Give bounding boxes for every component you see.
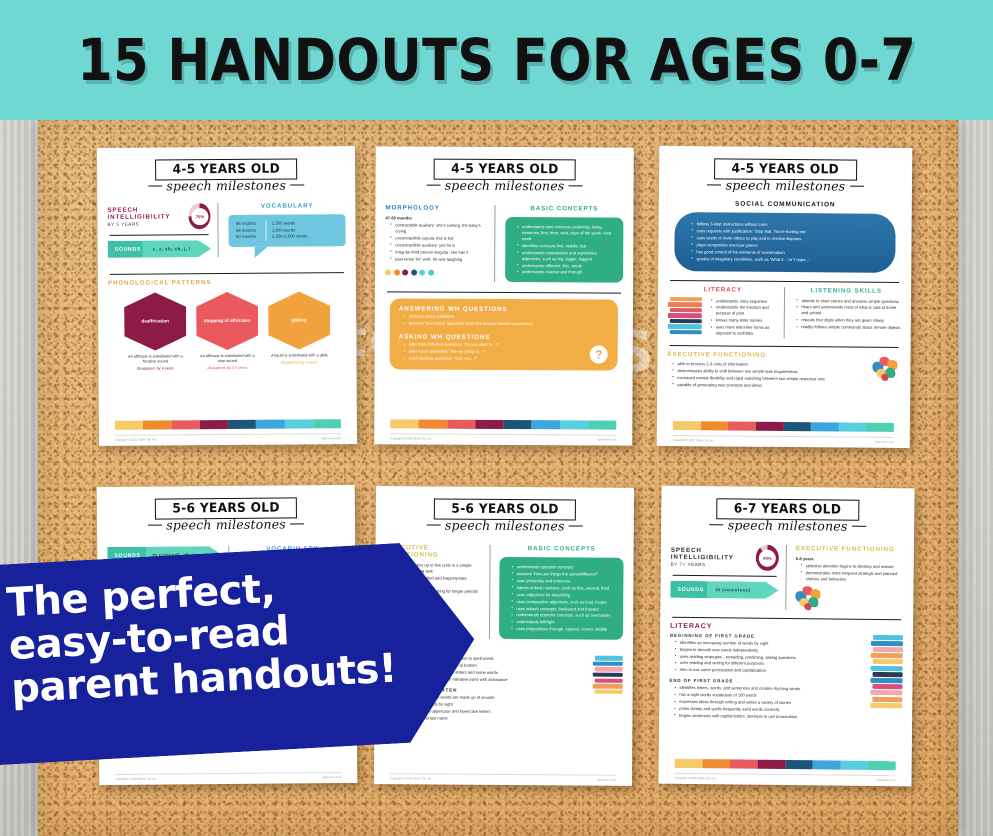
sheet-footer: Copyright © 2022 Shine Tot, Inc. adventu… (674, 773, 895, 782)
list-item: answers 'How are things the same/differe… (513, 571, 617, 578)
handout-age-title: 6-7 YEARS OLD (734, 501, 842, 517)
books-stack-icon (870, 635, 903, 723)
list-item: past tense 'be' verb: he was laughing (391, 256, 486, 262)
handout-subtitle: speech milestones (669, 177, 902, 194)
list-item: tries to use some punctuation and capita… (676, 667, 866, 675)
list-item: uses yesterday and tomorrow (513, 578, 617, 585)
list-item: attends to short stories and answers sim… (797, 298, 901, 305)
list-item: uses adverb concepts: backward and forwa… (512, 606, 616, 613)
basic-concepts-box: understands time concepts yesterday, tod… (505, 217, 624, 283)
list-item: asks future questions: 'Are we going to.… (405, 349, 609, 356)
hex-label: deaffrication (136, 318, 174, 324)
sheet-footer: Copyright © 2022 Shine Tot, Inc. adventu… (390, 433, 616, 441)
list-item: identifies concepts first, middle, last (518, 243, 616, 249)
handout-subtitle: speech milestones (386, 517, 624, 534)
handout-subtitle: speech milestones (107, 177, 345, 194)
footer-copyright: Copyright © 2022 Shine Tot, Inc. (115, 777, 157, 781)
color-strip (115, 419, 341, 430)
sounds-label: SOUNDS (670, 586, 715, 592)
listening-skills-list: attends to short stories and answers sim… (797, 298, 901, 332)
begin-first-grade-heading: BEGINNING OF FIRST GRADE (670, 632, 866, 639)
literacy-heading: LITERACY (670, 622, 903, 631)
sounds-banner: SOUNDS s, z, sh, ch, j, l (108, 240, 212, 258)
literacy-heading: LITERACY (668, 286, 778, 294)
footer-url: adventure.com (597, 437, 616, 441)
handout-age-title: 4-5 YEARS OLD (172, 162, 280, 178)
handout-title: 4-5 YEARS OLD speech milestones (386, 158, 624, 193)
handout-title: 4-5 YEARS OLD speech milestones (669, 158, 902, 194)
hex-disappears: disappears by 4 years (124, 366, 186, 371)
footer-copyright: Copyright © 2022 Shine Tot, Inc. (390, 776, 432, 780)
intelligibility-donut-chart: 90% (756, 545, 779, 571)
morphology-list: contractable auxiliary: she's coming, th… (391, 222, 486, 262)
asking-wh-list: asks early infinitive questions: 'Do you… (405, 342, 609, 363)
hex-desc: An affricate is substituted with a stop … (196, 353, 258, 364)
hex-label: gliding (287, 318, 312, 324)
books-stack-icon (592, 656, 622, 724)
sounds-label: SOUNDS (108, 246, 153, 252)
list-item: speaks of imaginary conditions, such as … (692, 256, 883, 264)
divider (387, 292, 621, 294)
list-item: uses more letter-like forms as opposed t… (712, 325, 778, 337)
footer-url: adventure.com (875, 440, 894, 444)
handout-subtitle: speech milestones (671, 517, 904, 534)
list-item: understands opposite concepts (513, 564, 617, 571)
basic-concepts-list: understands opposite concepts answers 'H… (512, 564, 616, 633)
list-item: irregular third person singular: she has… (391, 249, 486, 255)
hex-desc: A liquid is substituted with a glide (268, 352, 330, 358)
handout-age-title: 4-5 YEARS OLD (451, 162, 559, 178)
books-stack-icon (668, 297, 702, 338)
list-item: contractable auxiliary: she's coming, th… (391, 222, 486, 234)
divider (673, 575, 777, 577)
sounds-value: s, z, sh, ch, j, l (153, 246, 191, 251)
basic-concepts-heading: BASIC CONCEPTS (505, 205, 623, 213)
divider (110, 234, 209, 236)
handout-subtitle: speech milestones (107, 516, 345, 533)
color-strip (673, 421, 894, 432)
end-first-grade-list: identifies letters, words, and sentences… (675, 685, 865, 721)
list-item: names ordinal numbers, such as first, se… (513, 585, 617, 592)
phonological-hexagons: deaffrication An affricate is substitute… (108, 291, 347, 372)
executive-age: 6-8 years (796, 556, 904, 563)
list-item: understands opposite concepts, such as o… (512, 613, 616, 620)
footer-url: adventure.com (597, 778, 616, 782)
vocabulary-bubble: 48 months1,500 words 54 months1,900 word… (229, 214, 346, 247)
vocabulary-heading: VOCABULARY (229, 202, 346, 210)
hex-disappears: disappears by 6 years (268, 360, 330, 365)
list-item: uses comparative adjectives, such as lou… (512, 599, 616, 606)
wh-questions-box: ANSWERING WH QUESTIONS answers when ques… (390, 299, 618, 371)
list-item: understands time concepts yesterday, tod… (518, 224, 616, 242)
brain-icon (795, 586, 823, 610)
list-item: capable of generating new concepts and i… (673, 382, 866, 390)
list-item: understands comparative and superlative … (518, 250, 616, 262)
handout-3[interactable]: 4-5 YEARS OLD speech milestones SOCIAL C… (657, 146, 913, 448)
list-item: uses prepositions through, nearest, corn… (512, 626, 616, 633)
executive-functioning-heading: EXECUTIVE FUNCTIONING (667, 351, 866, 360)
poster-stage: illsontops ONTOPS Inc 15 HANDOUTS FOR AG… (0, 0, 993, 836)
handout-age-title: 5-6 YEARS OLD (172, 501, 280, 517)
speech-intelligibility-sub: BY 7+ YEARS (671, 562, 756, 568)
hex-disappears: disappears by 4.5 years (196, 366, 258, 371)
page-title: 15 HANDOUTS FOR AGES 0-7 (77, 26, 916, 94)
sheet-footer: Copyright © 2022 Shine Tot, Inc. adventu… (390, 773, 616, 782)
color-strip (675, 759, 896, 770)
hex-item: deaffrication An affricate is substitute… (124, 292, 187, 372)
list-item: demonstrates more frequent strategic and… (802, 570, 904, 583)
list-item: begins sentences with capital letters, a… (675, 713, 865, 721)
list-item: hears and understands most of what is sa… (797, 305, 901, 318)
promo-arrow-banner: The perfect, easy-to-read parent handout… (0, 539, 480, 766)
list-item: answers when questions (405, 314, 609, 321)
list-item: asks early infinitive questions: 'Do you… (405, 342, 609, 349)
divider (110, 272, 344, 275)
list-item: readily follows simple commands about re… (797, 324, 901, 331)
morphology-heading: MORPHOLOGY (385, 204, 486, 212)
handout-age-title: 4-5 YEARS OLD (732, 162, 840, 178)
list-item: uncontractible auxiliary: yes he is (391, 242, 486, 248)
asking-wh-heading: ASKING WH QUESTIONS (399, 334, 609, 342)
begin-first-grade-list: identifies an increasing number of words… (676, 640, 866, 676)
handout-age-title: 5-6 YEARS OLD (451, 502, 559, 518)
question-mark-icon: ? (590, 345, 608, 363)
executive-functioning-heading: EXECUTIVE FUNCTIONING (796, 545, 904, 553)
sheet-footer: Copyright © 2022 Shine Tot, Inc. adventu… (673, 435, 894, 444)
handout-6[interactable]: 6-7 YEARS OLD speech milestones SPEECH I… (658, 486, 914, 787)
vocab-age: 60 months (236, 234, 266, 241)
handout-title: 6-7 YEARS OLD speech milestones (671, 498, 904, 534)
intelligibility-donut-chart: 75% (189, 203, 211, 229)
handout-2[interactable]: 4-5 YEARS OLD speech milestones MORPHOLO… (374, 146, 634, 445)
answering-wh-list: answers when questions answers 'how many… (405, 314, 609, 328)
list-item: answers 'how many' questions when the an… (405, 321, 609, 328)
sheet-footer: Copyright © 2022 Shine Tot, Inc. adventu… (115, 772, 341, 781)
basic-concepts-heading: BASIC CONCEPTS (500, 545, 624, 553)
footer-copyright: Copyright © 2022 Shine Tot, Inc. (673, 438, 715, 442)
answering-wh-heading: ANSWERING WH QUESTIONS (399, 306, 609, 314)
handout-title: 5-6 YEARS OLD speech milestones (107, 497, 345, 533)
social-communication-box: follows 3-step instructions without cues… (674, 212, 896, 272)
social-communication-heading: SOCIAL COMMUNICATION (669, 200, 902, 209)
speech-intelligibility-heading: SPEECH INTELLIGIBILITY (671, 547, 756, 562)
list-item: uses adjectives for describing (513, 592, 617, 599)
list-item: selective attention begins to develop an… (802, 563, 904, 570)
divider (670, 345, 899, 348)
hex-label: stopping of affricates (199, 318, 256, 324)
list-item: repeats four digits when they are given … (797, 317, 901, 324)
listening-skills-heading: LISTENING SKILLS (792, 287, 902, 295)
sounds-value: th (voiceless) (715, 587, 750, 592)
list-item: understands nearest and through (518, 270, 616, 276)
handout-title: 4-5 YEARS OLD speech milestones (107, 158, 345, 194)
header-banner: 15 HANDOUTS FOR AGES 0-7 (0, 0, 993, 120)
footer-copyright: Copyright © 2022 Shine Tot, Inc. (390, 436, 432, 440)
basic-concepts-list: understands time concepts yesterday, tod… (518, 224, 617, 276)
footer-copyright: Copyright © 2022 Shine Tot, Inc. (674, 776, 716, 780)
footer-url: adventure.com (322, 436, 341, 440)
hex-item: gliding A liquid is substituted with a g… (268, 291, 331, 371)
list-item: understands the function and purpose of … (712, 305, 778, 317)
list-item: understands story sequence (712, 298, 778, 304)
divider (672, 616, 901, 619)
footer-url: adventure.com (876, 778, 895, 782)
handout-1[interactable]: 4-5 YEARS OLD speech milestones SPEECH I… (97, 146, 357, 446)
list-item: understands different, this, whole (518, 263, 616, 269)
list-item: knows many letter names (712, 318, 778, 324)
speech-intelligibility-heading: SPEECH INTELLIGIBILITY (107, 206, 189, 221)
literacy-list: understands story sequence understands t… (712, 298, 778, 338)
footer-copyright: Copyright © 2022 Shine Tot, Inc. (115, 437, 157, 441)
end-first-grade-heading: END OF FIRST GRADE (670, 678, 866, 685)
divider (670, 280, 899, 283)
sheet-footer: Copyright © 2022 Shine Tot, Inc. adventu… (115, 433, 341, 442)
speech-intelligibility-sub: BY 5 YEARS (107, 221, 188, 227)
color-strip (390, 419, 616, 429)
executive-functioning-list: selective attention begins to develop an… (802, 563, 904, 583)
list-item: asks can/may questions: 'Can you...?' (405, 356, 609, 363)
basic-concepts-box: understands opposite concepts answers 'H… (499, 557, 623, 640)
hex-desc: An affricate is substituted with a frica… (124, 353, 186, 364)
morphology-age: 47-60 months (385, 215, 486, 221)
handout-subtitle: speech milestones (386, 177, 624, 193)
phonological-heading: PHONOLOGICAL PATTERNS (108, 278, 346, 287)
sounds-banner: SOUNDS th (voiceless) (670, 581, 778, 599)
executive-functioning-list: able to process 2-3 units of information… (673, 361, 866, 389)
brain-icon (872, 357, 900, 381)
vocab-words: 2,200-2,500 words (266, 234, 308, 241)
footer-url: adventure.com (322, 775, 341, 779)
list-item: uncontractible copula: this is hot (391, 235, 486, 241)
hex-item: stopping of affricates An affricate is s… (196, 292, 259, 372)
handout-title: 5-6 YEARS OLD speech milestones (386, 498, 624, 534)
list-item: understands left/right (512, 619, 616, 626)
social-communication-list: follows 3-step instructions without cues… (692, 221, 883, 263)
